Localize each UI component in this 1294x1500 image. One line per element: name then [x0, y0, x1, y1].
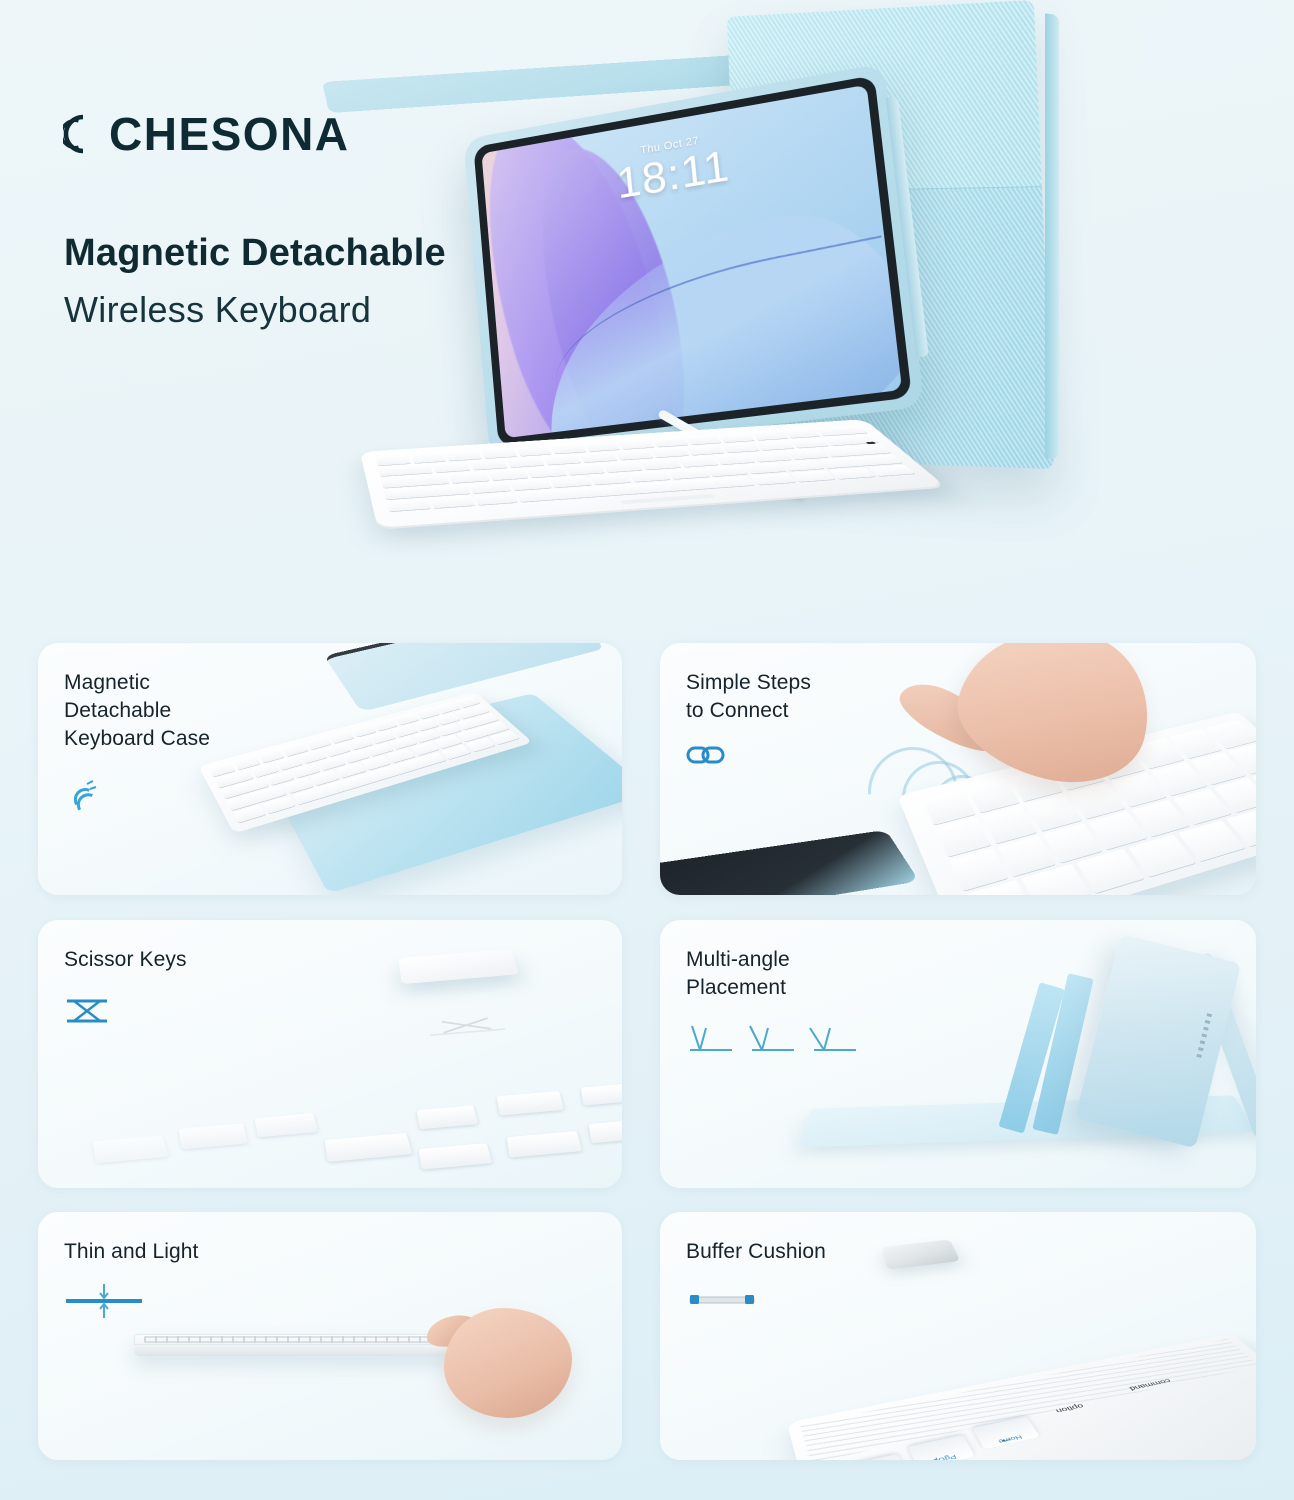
- brand-logo: CHESONA: [63, 108, 350, 160]
- brand-name: CHESONA: [109, 111, 350, 157]
- buffer-cushion-pad: [881, 1240, 960, 1270]
- speaker-grille: [1196, 1013, 1212, 1059]
- hero-product-image: Thu Oct 27 18:11: [330, 0, 1260, 625]
- tablet-device: Thu Oct 27 18:11: [463, 63, 924, 458]
- feature-card-simple-steps-to-connect: Simple Steps to Connect: [660, 643, 1256, 895]
- stand-angles-icon: [686, 1022, 866, 1063]
- magnet-icon: [64, 777, 98, 816]
- keyboard-key-rows: [144, 1336, 454, 1343]
- tablet-shell: Thu Oct 27 18:11: [463, 63, 924, 458]
- feature-title: Scissor Keys: [64, 946, 187, 974]
- floating-keycap: [398, 949, 519, 984]
- hero-section: CHESONA Magnetic Detachable Wireless Key…: [0, 0, 1294, 625]
- thin-keyboard-side-view: [134, 1334, 464, 1356]
- keyboard-keycaps-closeup: [84, 1058, 622, 1188]
- feature-card-magnetic-detachable-keyboard-case: Magnetic Detachable Keyboard Case: [38, 643, 622, 895]
- wireless-keyboard: [360, 419, 947, 530]
- link-chain-icon: [686, 743, 726, 772]
- chesona-circle-mark-icon: [63, 108, 115, 160]
- keyboard-body: [360, 419, 947, 530]
- deck-ridges: [800, 1339, 1256, 1460]
- keyboard-deck-closeup: End PgUp Home option command ← ↑ →: [787, 1333, 1256, 1460]
- feature-title: Magnetic Detachable Keyboard Case: [64, 669, 210, 753]
- keyboard-top-surface: [134, 1334, 464, 1345]
- feature-title: Buffer Cushion: [686, 1238, 826, 1266]
- cushion-layer-icon: [686, 1290, 758, 1315]
- scissor-mechanism-part: [429, 1020, 509, 1046]
- feature-card-thin-and-light: Thin and Light: [38, 1212, 622, 1460]
- feature-title: Simple Steps to Connect: [686, 669, 811, 725]
- hand-holding-keyboard: [444, 1308, 572, 1418]
- keyboard-front-notch: [620, 494, 716, 505]
- folio-edge: [1045, 14, 1059, 460]
- tablet-screen: Thu Oct 27 18:11: [481, 85, 902, 438]
- keycap-end: End: [839, 1454, 907, 1460]
- lockscreen-time: 18:11: [484, 116, 876, 230]
- feature-title: Multi-angle Placement: [686, 946, 790, 1002]
- feature-title: Thin and Light: [64, 1238, 199, 1266]
- scissor-mechanism-icon: [64, 996, 110, 1031]
- thickness-arrows-icon: [64, 1282, 144, 1325]
- feature-card-scissor-keys: Scissor Keys: [38, 920, 622, 1188]
- feature-card-multi-angle-placement: Multi-angle Placement: [660, 920, 1256, 1188]
- tablet-corner: [660, 830, 919, 895]
- feature-card-buffer-cushion: Buffer Cushion End PgUp Home option comm…: [660, 1212, 1256, 1460]
- page-subtitle: Wireless Keyboard: [64, 289, 371, 331]
- tablet-bezel: Thu Oct 27 18:11: [473, 75, 912, 447]
